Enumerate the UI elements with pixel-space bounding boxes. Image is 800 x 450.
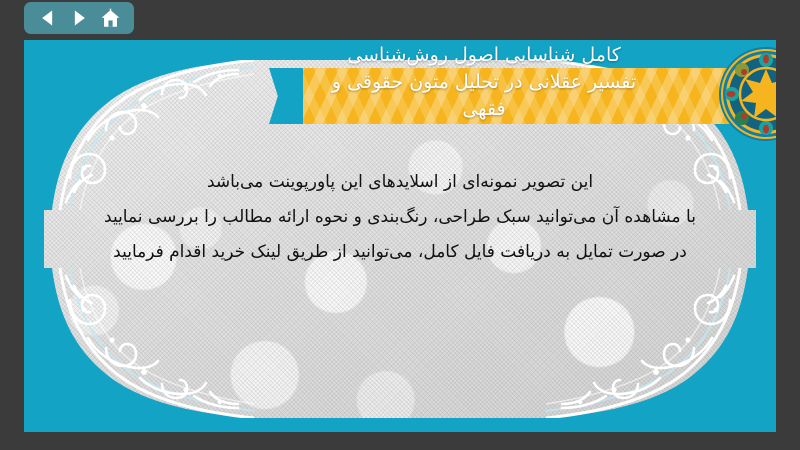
forward-button[interactable] — [67, 6, 91, 30]
presentation-slide: این تصویر نمونه‌ای از اسلایدهای این پاور… — [24, 40, 776, 432]
title-banner — [269, 68, 776, 124]
slide-viewer: این تصویر نمونه‌ای از اسلایدهای این پاور… — [0, 0, 800, 450]
home-button[interactable] — [98, 6, 122, 30]
body-line-1: این تصویر نمونه‌ای از اسلایدهای این پاور… — [84, 165, 716, 200]
arabesque-corner-icon — [546, 268, 756, 418]
islamic-medallion-icon — [718, 46, 776, 142]
arabesque-corner-icon — [44, 268, 254, 418]
body-line-3: در صورت تمایل به دریافت فایل کامل، می‌تو… — [84, 235, 716, 270]
slide-body-text: این تصویر نمونه‌ای از اسلایدهای این پاور… — [84, 165, 716, 270]
title-banner-chevron-cap — [269, 68, 303, 124]
back-button[interactable] — [36, 6, 60, 30]
title-banner-background — [295, 68, 776, 124]
body-line-2: با مشاهده آن می‌توانید سبک طراحی، رنگ‌بن… — [84, 200, 716, 235]
navigation-toolbar — [24, 2, 134, 34]
